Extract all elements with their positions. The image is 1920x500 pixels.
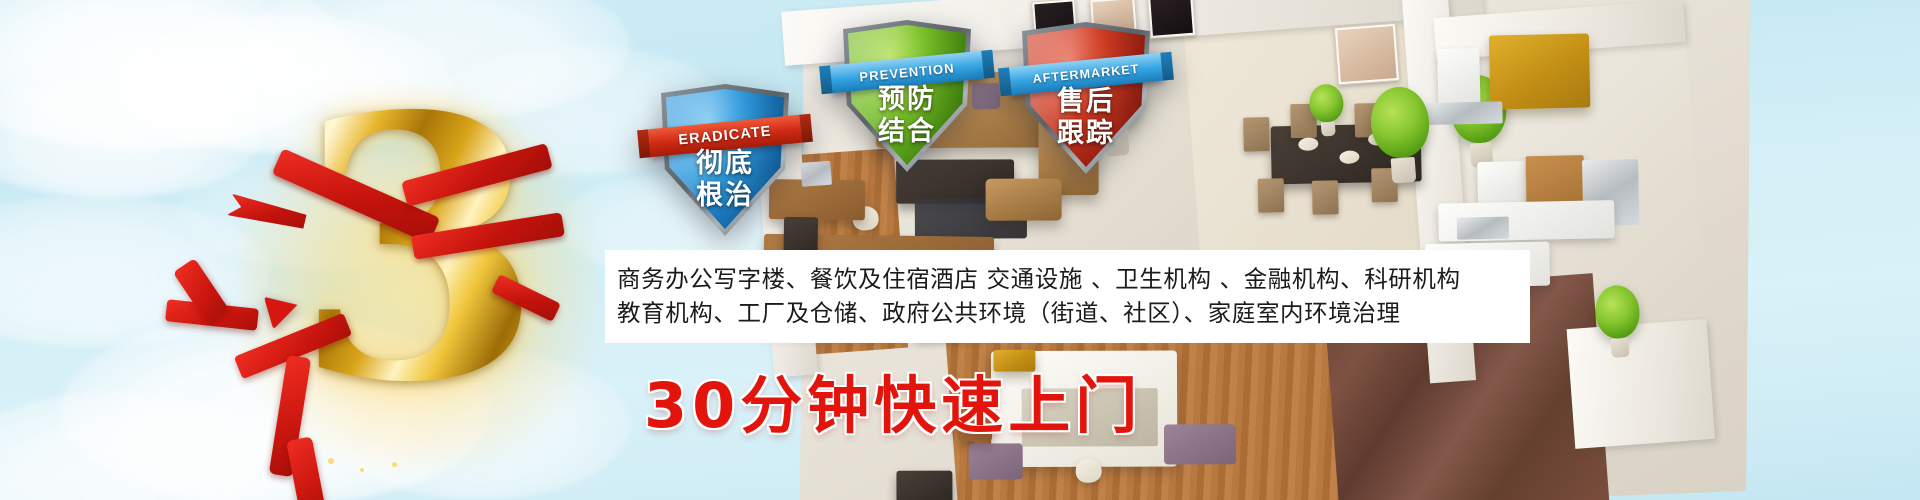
gold-sparkle	[392, 462, 397, 467]
dining-chair	[1258, 178, 1285, 213]
dining-chair	[1312, 180, 1339, 215]
sofa-cushion	[972, 83, 1001, 110]
service-banner: 3 ERADICATE 彻底 根治 PREVENT	[0, 0, 1920, 500]
shield-badge-eradicate[interactable]: ERADICATE 彻底 根治	[661, 84, 789, 236]
potted-plant	[1594, 284, 1643, 359]
wall-picture	[1147, 0, 1196, 39]
bedroom-armchair	[1164, 424, 1236, 464]
service-scope-line-2: 教育机构、工厂及仓储、政府公共环境（街道、社区）、家庭室内环境治理	[617, 296, 1520, 330]
gold-sparkle	[328, 458, 334, 464]
table-centerpiece	[1308, 83, 1346, 137]
shield-chinese-line-2: 跟踪	[1022, 120, 1150, 148]
shield-english-label: PREVENTION	[859, 60, 956, 84]
shield-chinese-line-2: 结合	[843, 118, 971, 146]
shield-badge-prevention[interactable]: PREVENTION 预防 结合	[843, 20, 971, 172]
monitor	[800, 161, 832, 187]
gold-sparkle	[360, 468, 364, 472]
service-scope-panel: 商务办公写字楼、餐饮及住宿酒店 交通设施 、卫生机构 、金融机构、科研机构 教育…	[605, 250, 1530, 343]
shield-chinese-line-1: 售后	[1022, 88, 1150, 116]
wall-portrait	[1334, 23, 1400, 85]
shield-english-label: AFTERMARKET	[1032, 62, 1140, 86]
shield-english-label: ERADICATE	[678, 124, 773, 149]
shield-chinese-line-2: 根治	[661, 182, 789, 210]
arrow-head-icon	[264, 289, 302, 330]
water-heater	[1437, 48, 1480, 107]
red-arrow-ribbon	[162, 238, 412, 458]
shield-chinese-line-1: 彻底	[661, 150, 789, 178]
shield-chinese-line-1: 预防	[843, 86, 971, 114]
cooktop	[1457, 217, 1509, 240]
tv-unit	[896, 471, 952, 500]
potted-plant	[1368, 85, 1433, 185]
upper-cabinet	[1489, 33, 1591, 109]
shield-badge-aftermarket[interactable]: AFTERMARKET 售后 跟踪	[1022, 22, 1150, 174]
ottoman	[986, 179, 1062, 221]
bedroom-bench	[969, 443, 1023, 479]
promo-headline: 30分钟快速上门	[644, 355, 1142, 445]
built-in-oven	[1477, 161, 1526, 204]
range-hood	[1426, 101, 1502, 125]
service-scope-line-1: 商务办公写字楼、餐饮及住宿酒店 交通设施 、卫生机构 、金融机构、科研机构	[617, 262, 1520, 296]
dining-chair	[1243, 117, 1270, 152]
